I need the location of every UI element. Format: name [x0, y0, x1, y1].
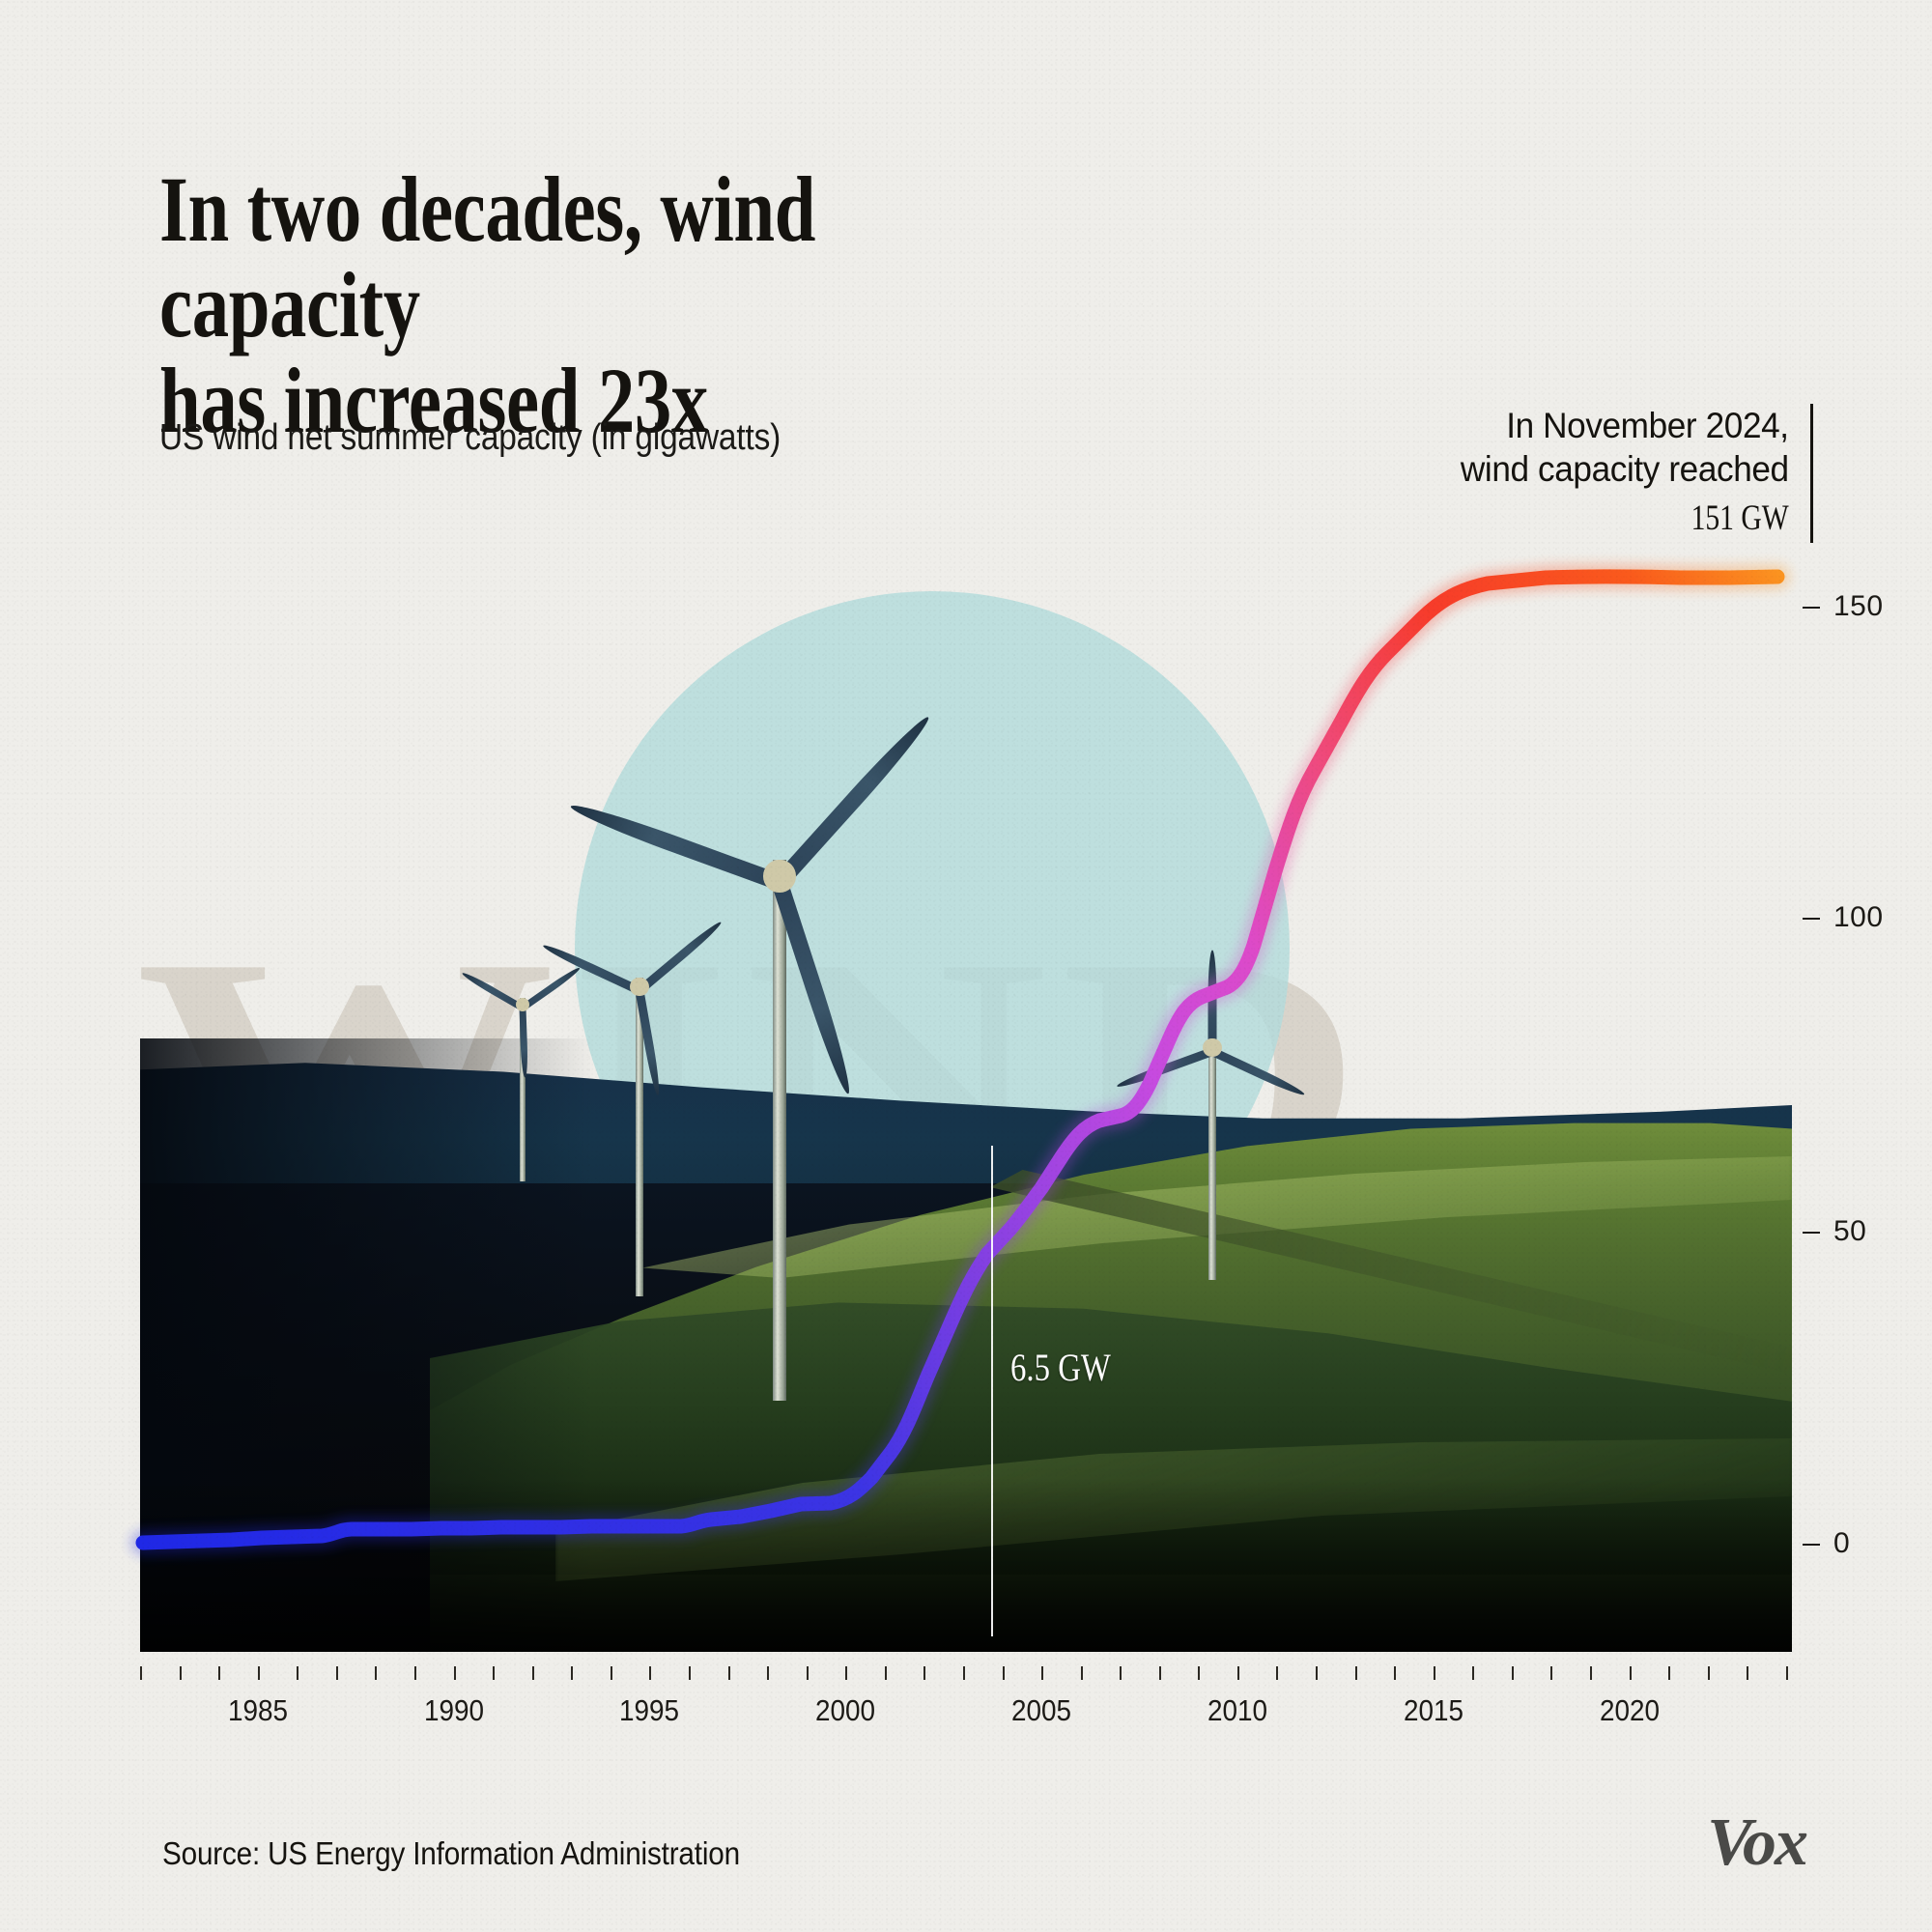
x-tick-label: 1995 — [619, 1693, 679, 1728]
x-tick — [414, 1666, 416, 1680]
x-tick-label: 1985 — [228, 1693, 288, 1728]
callout-line1: In November 2024, — [1461, 404, 1789, 447]
x-tick — [1434, 1666, 1435, 1680]
x-tick — [1120, 1666, 1122, 1680]
page-title-line1: In two decades, wind capacity — [159, 162, 1071, 354]
x-tick — [1512, 1666, 1514, 1680]
x-tick — [297, 1666, 298, 1680]
x-tick — [1355, 1666, 1357, 1680]
x-tick-label: 2000 — [815, 1693, 875, 1728]
turbine-right — [1208, 1038, 1216, 1280]
turbine-blade — [1208, 950, 1217, 1051]
y-tick-label: 150 — [1833, 590, 1884, 622]
x-tick — [180, 1666, 182, 1680]
turbine-small-left — [520, 998, 526, 1181]
x-tick — [1708, 1666, 1710, 1680]
x-tick — [1668, 1666, 1670, 1680]
y-tick-100: 100 — [1803, 901, 1884, 934]
x-tick — [532, 1666, 534, 1680]
x-tick — [728, 1666, 730, 1680]
x-tick-label: 2010 — [1207, 1693, 1267, 1728]
x-tick — [1159, 1666, 1161, 1680]
x-tick — [1472, 1666, 1474, 1680]
x-tick — [1394, 1666, 1396, 1680]
x-tick — [1550, 1666, 1552, 1680]
x-tick — [571, 1666, 573, 1680]
page-subtitle: US wind net summer capacity (in gigawatt… — [159, 417, 781, 459]
x-tick — [923, 1666, 925, 1680]
x-tick — [1041, 1666, 1043, 1680]
x-tick — [375, 1666, 377, 1680]
y-tick-label: 100 — [1833, 901, 1884, 933]
annotation-rule-2004 — [991, 1146, 993, 1636]
turbine-hub — [1203, 1038, 1221, 1057]
x-tick — [1198, 1666, 1200, 1680]
x-tick — [885, 1666, 887, 1680]
x-axis: 19851990199520002005201020152020 — [140, 1666, 1794, 1724]
x-tick — [140, 1666, 142, 1680]
x-tick-label: 1990 — [424, 1693, 484, 1728]
x-tick — [1276, 1666, 1278, 1680]
x-tick-label: 2020 — [1600, 1693, 1660, 1728]
infographic-root: WIND — [0, 0, 1932, 1932]
turbine-large — [773, 860, 786, 1401]
x-tick — [258, 1666, 260, 1680]
x-tick — [1237, 1666, 1239, 1680]
y-tick-50: 50 — [1803, 1215, 1866, 1248]
x-tick — [454, 1666, 456, 1680]
x-tick — [493, 1666, 495, 1680]
x-tick — [1590, 1666, 1592, 1680]
source-credit: Source: US Energy Information Administra… — [162, 1835, 740, 1872]
x-tick — [1003, 1666, 1005, 1680]
x-tick — [845, 1666, 847, 1680]
x-tick — [611, 1666, 612, 1680]
photo-bottom-shadow — [140, 1478, 1792, 1652]
x-tick — [649, 1666, 651, 1680]
y-tick-label: 50 — [1833, 1215, 1866, 1247]
turbine-mast — [1208, 1038, 1216, 1280]
turbine-hub — [763, 860, 796, 893]
x-tick — [336, 1666, 338, 1680]
turbine-hub — [630, 978, 648, 996]
x-tick — [963, 1666, 965, 1680]
x-tick — [218, 1666, 220, 1680]
x-tick — [689, 1666, 691, 1680]
y-tick-label: 0 — [1833, 1527, 1850, 1559]
x-tick — [1747, 1666, 1748, 1680]
turbine-mid — [636, 978, 643, 1296]
y-tick-150: 150 — [1803, 590, 1884, 623]
y-tick-0: 0 — [1803, 1527, 1850, 1560]
x-tick — [1630, 1666, 1632, 1680]
endpoint-callout: In November 2024, wind capacity reached … — [1443, 404, 1813, 543]
callout-value: 151 GW — [1513, 495, 1789, 543]
x-tick — [767, 1666, 769, 1680]
annotation-label-6point5gw: 6.5 GW — [1010, 1345, 1111, 1390]
x-tick-label: 2015 — [1404, 1693, 1463, 1728]
vox-logo: Vox — [1707, 1804, 1806, 1882]
page-title: In two decades, wind capacity has increa… — [159, 162, 1071, 449]
wind-farm-photo — [140, 1038, 1792, 1652]
x-tick — [1081, 1666, 1083, 1680]
x-tick — [1316, 1666, 1318, 1680]
x-tick-label: 2005 — [1011, 1693, 1071, 1728]
x-tick — [1786, 1666, 1788, 1680]
callout-line2: wind capacity reached — [1461, 447, 1789, 491]
turbine-mast — [773, 860, 786, 1401]
x-tick — [807, 1666, 809, 1680]
